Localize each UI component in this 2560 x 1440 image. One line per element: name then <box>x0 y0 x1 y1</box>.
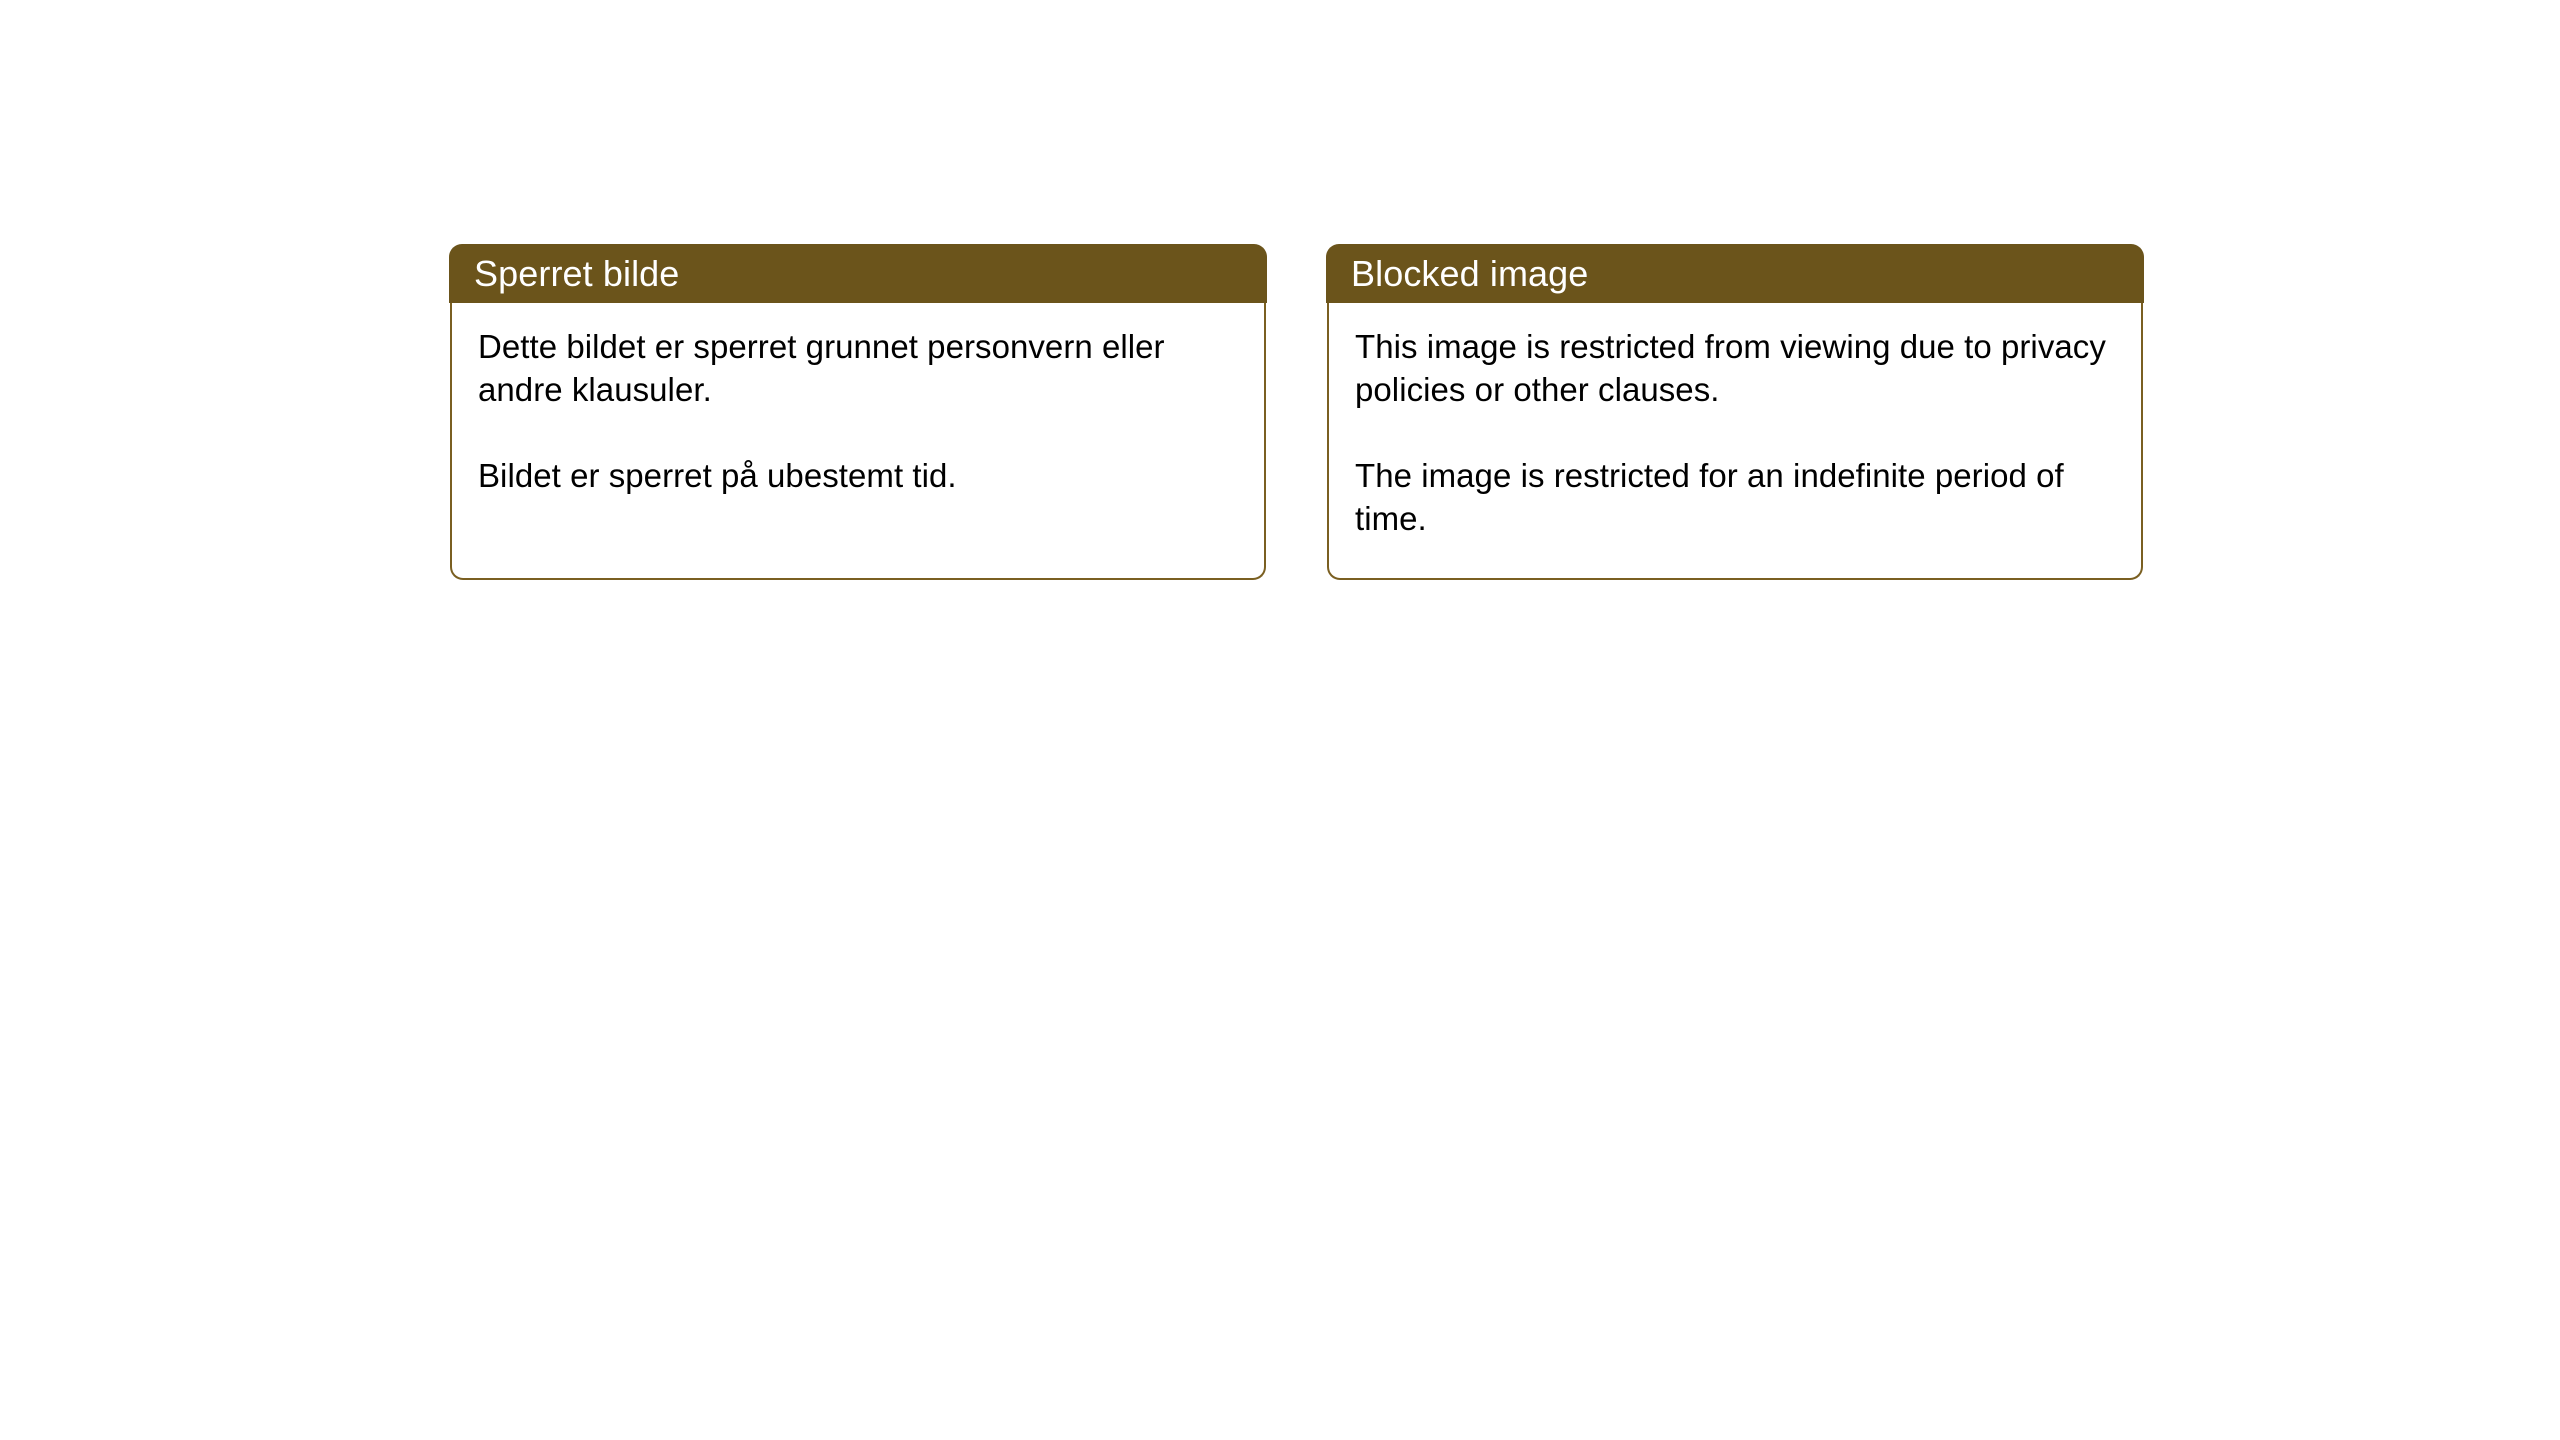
blocked-image-card-english: Blocked image This image is restricted f… <box>1327 244 2143 580</box>
card-body-norwegian: Dette bildet er sperret grunnet personve… <box>450 303 1266 580</box>
card-header-norwegian: Sperret bilde <box>449 244 1267 303</box>
card-paragraph-english-2: The image is restricted for an indefinit… <box>1355 454 2117 540</box>
blocked-image-notice-group: Sperret bilde Dette bildet er sperret gr… <box>450 244 2143 580</box>
card-paragraph-norwegian-2: Bildet er sperret på ubestemt tid. <box>478 454 1240 497</box>
card-body-english: This image is restricted from viewing du… <box>1327 303 2143 580</box>
card-paragraph-english-1: This image is restricted from viewing du… <box>1355 325 2117 411</box>
card-title-norwegian: Sperret bilde <box>474 254 679 294</box>
card-header-english: Blocked image <box>1326 244 2144 303</box>
card-title-english: Blocked image <box>1351 254 1588 294</box>
blocked-image-card-norwegian: Sperret bilde Dette bildet er sperret gr… <box>450 244 1266 580</box>
card-paragraph-norwegian-1: Dette bildet er sperret grunnet personve… <box>478 325 1240 411</box>
